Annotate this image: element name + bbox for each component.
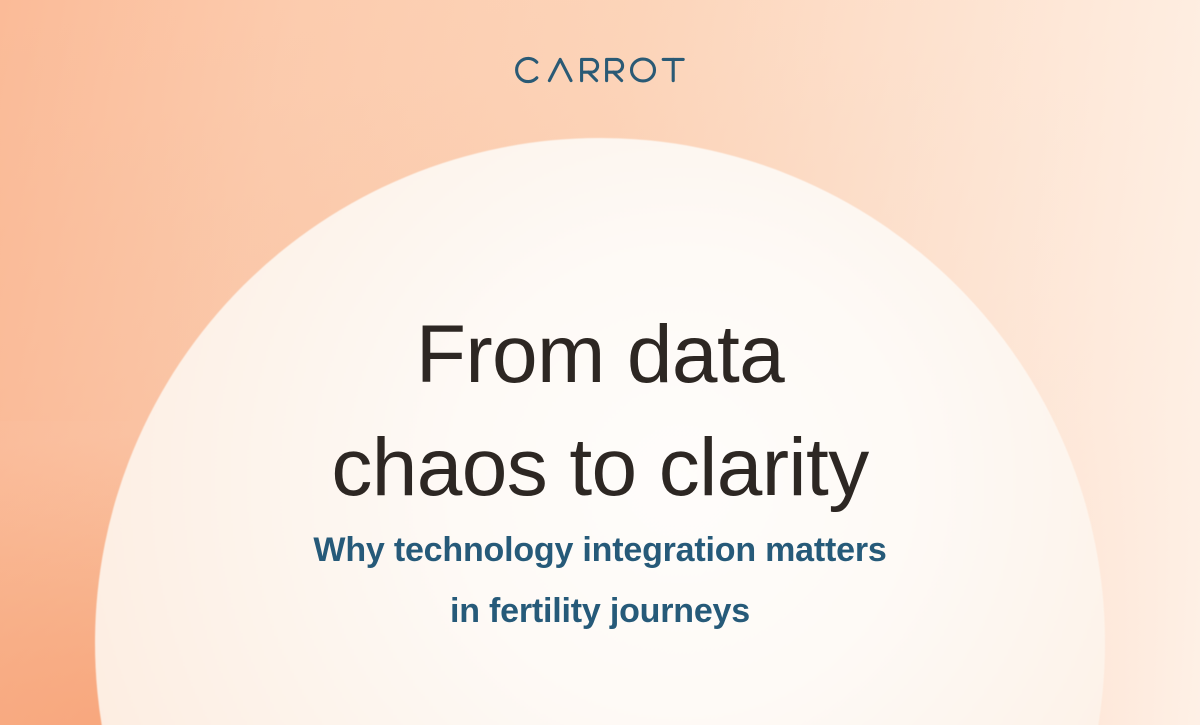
card-content: From data chaos to clarity Why technolog… [0, 0, 1200, 725]
page-subtitle: Why technology integration matters in fe… [0, 520, 1200, 641]
promo-card: From data chaos to clarity Why technolog… [0, 0, 1200, 725]
page-title: From data chaos to clarity [0, 298, 1200, 524]
carrot-logo[interactable] [0, 54, 1200, 86]
carrot-wordmark-icon [515, 55, 685, 85]
